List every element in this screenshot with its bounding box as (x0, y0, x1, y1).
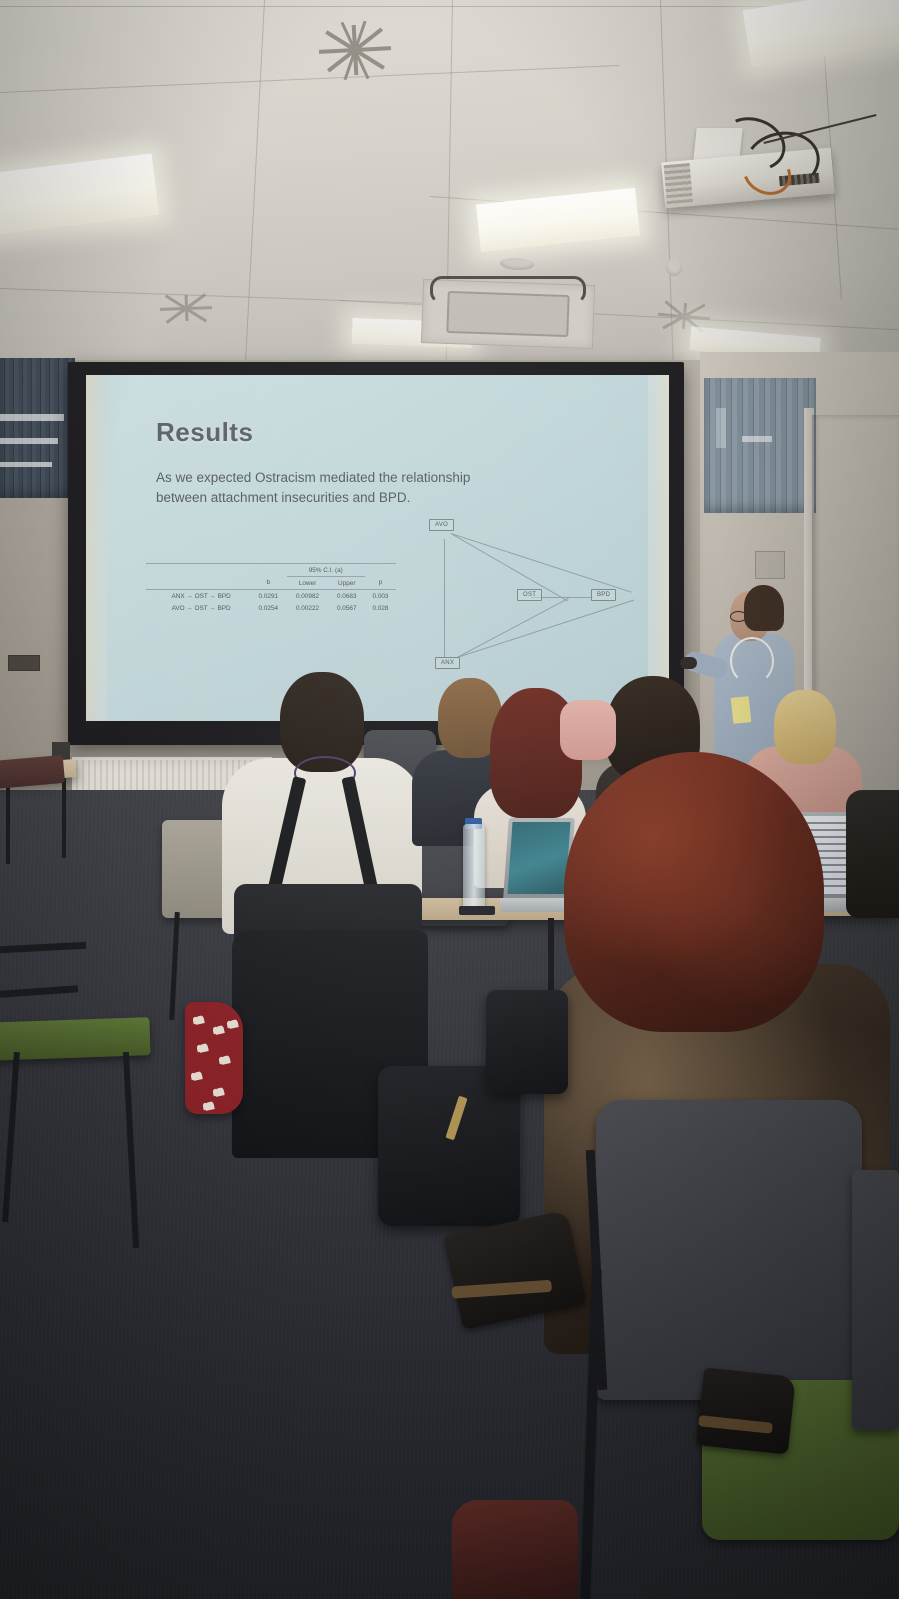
row-b: 0.0291 (250, 590, 286, 603)
grey-chair-foreground[interactable] (596, 1100, 862, 1400)
boot (696, 1367, 796, 1454)
air-diffuser-icon (299, 19, 412, 81)
ceiling-light-panel (743, 0, 899, 68)
table-row: ANX → OST → BPD 0.0291 0.00982 0.0683 0.… (146, 590, 396, 603)
ac-cable (430, 276, 586, 304)
path-diagram: AVO OST BPD ANX (421, 517, 636, 702)
table-col-upper: Upper (329, 577, 365, 590)
results-table: 95% C.I. (a) b Lower Upper p ANX → OST →… (146, 563, 396, 614)
table-col-b: b (250, 577, 286, 590)
smoke-detector (500, 257, 535, 271)
slide-edge (648, 375, 669, 721)
water-bottle[interactable] (463, 824, 485, 910)
presenter-lanyard (730, 637, 774, 685)
row-lower: 0.00222 (287, 602, 329, 614)
person-hair-curly (564, 752, 824, 1032)
red-shoe (452, 1500, 578, 1599)
glasses-icon (730, 611, 747, 622)
audience-member-pink-sleeve (560, 700, 616, 760)
slide-edge (86, 375, 107, 721)
presentation-slide: Results As we expected Ostracism mediate… (86, 375, 669, 721)
projector-vent (664, 163, 693, 205)
diagram-node-ost: OST (517, 589, 542, 601)
table-row: AVO → OST → BPD 0.0254 0.00222 0.0567 0.… (146, 602, 396, 614)
window-blinds-right (704, 378, 816, 513)
table-span-header: 95% C.I. (a) (287, 564, 365, 577)
ceiling (0, 0, 899, 372)
red-heart-bag[interactable] (185, 1002, 243, 1114)
diagram-node-anx: ANX (435, 657, 460, 669)
grey-chair-foreground-right[interactable] (852, 1170, 899, 1430)
table-col-1 (152, 577, 250, 590)
slide-body-text: As we expected Ostracism mediated the re… (156, 468, 496, 507)
sprinkler-head (666, 258, 682, 276)
air-diffuser-icon (149, 291, 222, 325)
row-upper: 0.0683 (329, 590, 365, 603)
row-path: ANX → OST → BPD (152, 590, 250, 603)
black-bag-under-table[interactable] (486, 990, 568, 1094)
window-blinds-left (0, 358, 75, 498)
table-col-p: p (365, 577, 396, 590)
slide-title: Results (156, 417, 253, 448)
row-p: 0.003 (365, 590, 396, 603)
diagram-node-avo: AVO (429, 519, 454, 531)
presentation-clicker[interactable] (680, 657, 697, 669)
wall-socket-plate[interactable] (755, 551, 785, 579)
presentation-room-photo: Results As we expected Ostracism mediate… (0, 0, 899, 1599)
row-p: 0.028 (365, 602, 396, 614)
table-leg (6, 778, 10, 864)
smartphone[interactable] (459, 906, 495, 915)
ceiling-light-panel (0, 153, 159, 236)
ceiling-wire (763, 114, 876, 144)
row-upper: 0.0567 (329, 602, 365, 614)
presenter-hair-bun (766, 609, 784, 631)
audience-member-white-shirt (222, 672, 422, 932)
wall-socket-plate[interactable] (8, 655, 40, 671)
diagram-node-bpd: BPD (591, 589, 616, 601)
table-col-lower: Lower (287, 577, 329, 590)
row-b: 0.0254 (250, 602, 286, 614)
table-leg (62, 778, 66, 858)
ceiling-light-panel (476, 188, 640, 252)
row-path: AVO → OST → BPD (152, 602, 250, 614)
row-lower: 0.00982 (287, 590, 329, 603)
